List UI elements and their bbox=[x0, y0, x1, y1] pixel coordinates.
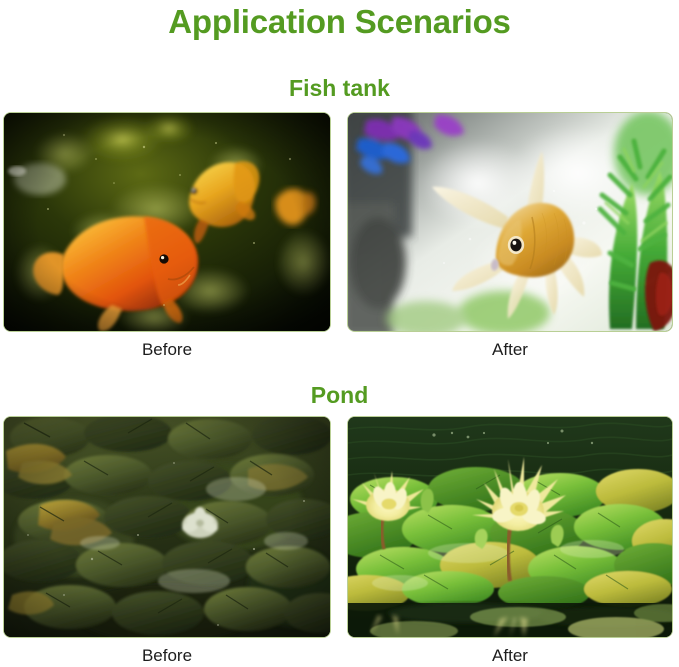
pond-before-photo bbox=[4, 417, 330, 637]
section-heading-fish-tank: Fish tank bbox=[0, 74, 679, 102]
fish-tank-before-photo bbox=[4, 113, 330, 331]
fish-tank-after-illustration bbox=[348, 113, 672, 331]
fish-tank-after-photo bbox=[348, 113, 672, 331]
pond-before-illustration bbox=[4, 417, 330, 637]
caption-fish-tank-before: Before bbox=[4, 339, 330, 361]
pond-after-illustration bbox=[348, 417, 672, 637]
fish-tank-before-illustration bbox=[4, 113, 330, 331]
page-title: Application Scenarios bbox=[0, 2, 679, 42]
caption-fish-tank-after: After bbox=[348, 339, 672, 361]
section-heading-pond: Pond bbox=[0, 381, 679, 409]
pond-after-photo bbox=[348, 417, 672, 637]
application-scenarios-page: Application Scenarios Fish tank bbox=[0, 0, 679, 664]
